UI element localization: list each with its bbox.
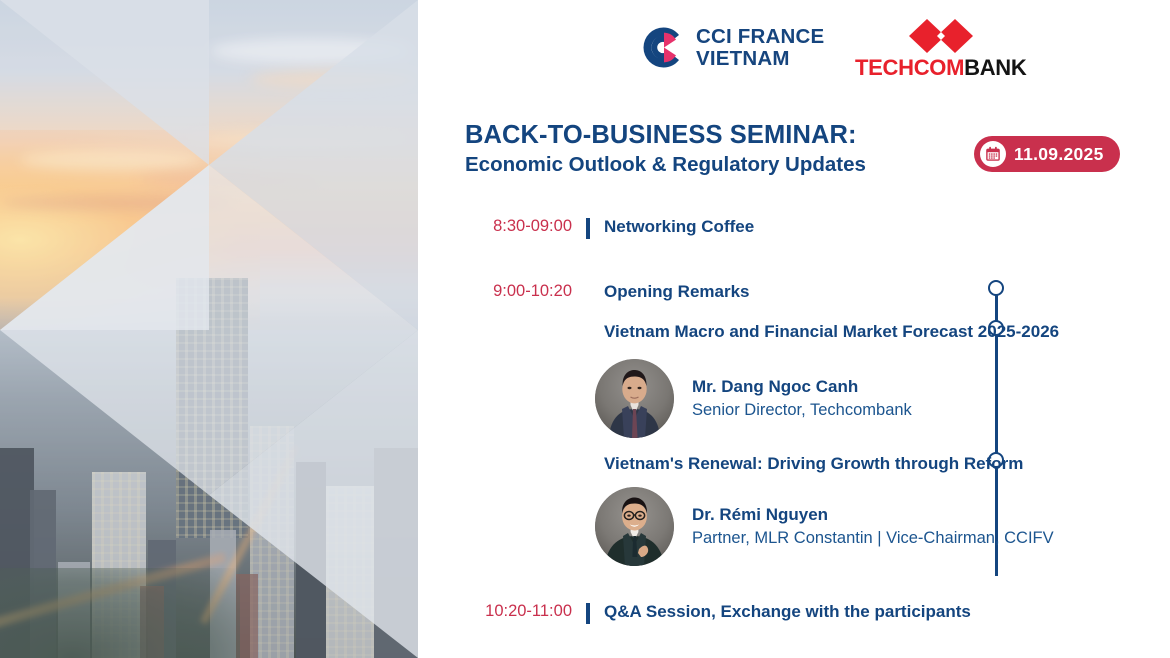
cloud-shape [0, 196, 230, 210]
cloud-shape [140, 172, 320, 188]
agenda-item-heading: Vietnam's Renewal: Driving Growth throug… [604, 454, 1023, 474]
central-tower [176, 278, 248, 538]
agenda-item: Vietnam's Renewal: Driving Growth throug… [464, 454, 1023, 474]
city-skyline [0, 298, 418, 658]
building [326, 486, 374, 658]
agenda-item-time: 10:20-11:00 [464, 602, 572, 621]
speaker-photo-remi-nguyen [595, 487, 674, 566]
cloud-shape [210, 38, 410, 64]
tree-canopy [0, 568, 240, 658]
tower-windows [176, 278, 248, 538]
speaker-role: Senior Director, Techcombank [692, 400, 912, 421]
speaker-block: Dr. Rémi Nguyen Partner, MLR Constantin … [595, 487, 1054, 566]
speaker-photo-dang-ngoc-canh [595, 359, 674, 438]
agenda-item-heading: Networking Coffee [604, 217, 754, 237]
agenda-item: 8:30-09:00 Networking Coffee [464, 217, 754, 239]
agenda-item-heading: Vietnam Macro and Financial Market Forec… [604, 322, 1059, 342]
cloud-shape [20, 150, 200, 170]
agenda-list: 8:30-09:00 Networking Coffee 9:00-10:20 … [418, 0, 1170, 658]
agenda-item-marker [572, 602, 604, 624]
building-windows [326, 486, 374, 658]
cloud-shape [190, 132, 410, 146]
speaker-role: Partner, MLR Constantin | Vice-Chairman,… [692, 528, 1054, 549]
separator-bar [586, 603, 590, 624]
timeline-dot [988, 280, 1004, 296]
cloud-shape [250, 70, 418, 88]
building [374, 448, 418, 658]
separator-bar [586, 218, 590, 239]
agenda-item-heading: Opening Remarks [604, 282, 750, 302]
agenda-item-time: 9:00-10:20 [464, 282, 572, 301]
agenda-item: 10:20-11:00 Q&A Session, Exchange with t… [464, 602, 971, 624]
speaker-name: Dr. Rémi Nguyen [692, 505, 828, 524]
content-panel: CCI FRANCE VIETNAM TECHCOMBANK BACK-TO-B… [418, 0, 1170, 658]
speaker-block: Mr. Dang Ngoc Canh Senior Director, Tech… [595, 359, 912, 438]
agenda-item-heading: Q&A Session, Exchange with the participa… [604, 602, 971, 622]
agenda-item-time: 8:30-09:00 [464, 217, 572, 236]
speaker-info: Dr. Rémi Nguyen Partner, MLR Constantin … [692, 504, 1054, 549]
speaker-name: Mr. Dang Ngoc Canh [692, 377, 858, 396]
agenda-item: Vietnam Macro and Financial Market Forec… [464, 322, 1059, 342]
agenda-item: 9:00-10:20 Opening Remarks [464, 282, 750, 302]
hero-photo-panel [0, 0, 418, 658]
agenda-item-marker [572, 217, 604, 239]
building [296, 462, 326, 658]
speaker-info: Mr. Dang Ngoc Canh Senior Director, Tech… [692, 376, 912, 421]
